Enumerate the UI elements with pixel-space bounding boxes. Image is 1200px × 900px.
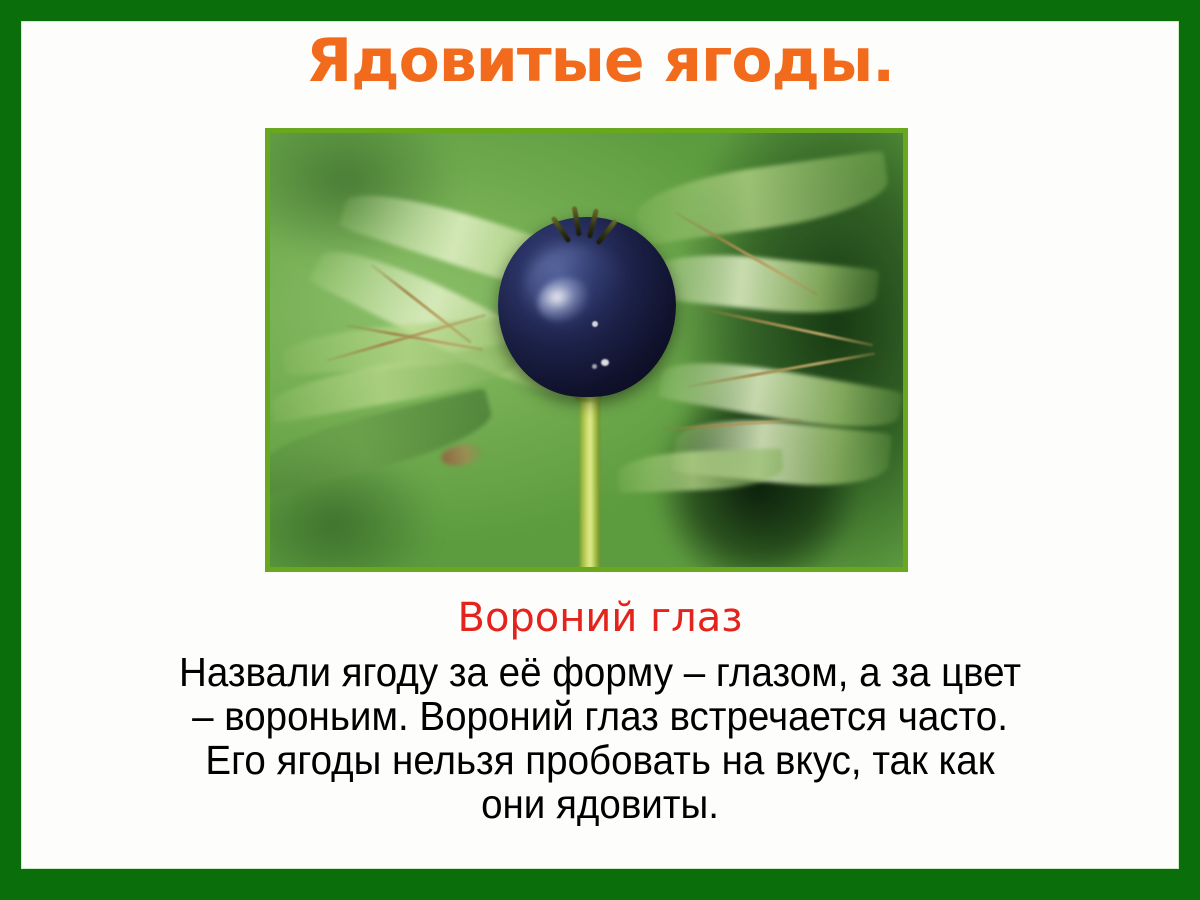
photo-caption: Вороний глаз [22,596,1178,640]
slide: Ядовитые ягоды. [0,0,1200,900]
body-line: – вороньим. Вороний глаз встречается час… [57,694,1144,738]
berry-photo [270,133,903,567]
berry-crown [561,202,622,242]
body-line: они ядовиты. [57,782,1144,826]
crown-spike-2 [572,206,582,236]
plant-stem [580,376,600,567]
body-line: Назвали ягоду за её форму – глазом, а за… [57,650,1144,694]
slide-content-area: Ядовитые ягоды. [22,22,1178,868]
poisonous-berry [498,217,676,397]
crown-spike-3 [587,208,599,238]
crown-spike-1 [551,216,572,244]
berry-speck-2 [601,359,609,366]
body-line: Его ягоды нельзя пробовать на вкус, так … [57,738,1144,782]
berry-speck-3 [592,364,597,369]
crown-spike-4 [596,219,618,246]
berry-speck-1 [592,321,598,327]
page-title: Ядовитые ягоды. [22,30,1178,93]
berry-photo-frame [265,128,908,572]
body-paragraph: Назвали ягоду за её форму – глазом, а за… [57,650,1144,826]
